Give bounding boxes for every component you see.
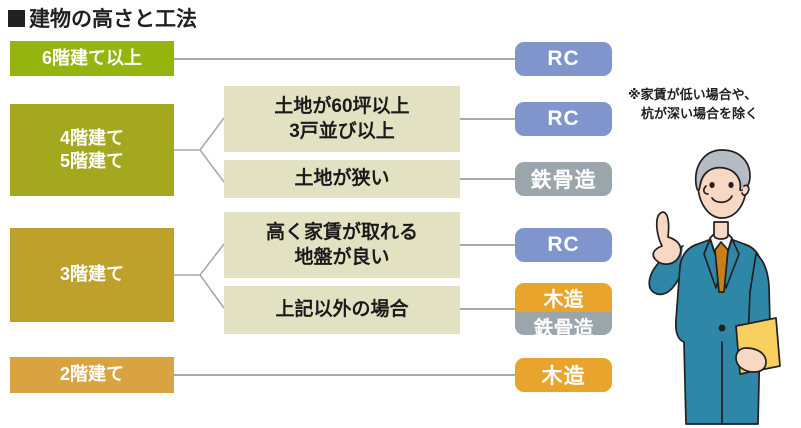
result-pill-wood-3floors[interactable]: 木造 <box>515 283 612 312</box>
connector-cond2-to-steel <box>460 178 515 180</box>
level-box-3-floors[interactable]: 3階建て <box>10 228 174 322</box>
result-pill-rc-6floors[interactable]: RC <box>515 42 612 76</box>
condition-box-high-rent-good-ground[interactable]: 高く家賃が取れる 地盤が良い <box>224 212 460 278</box>
connector-cond3-to-rc <box>460 244 515 246</box>
result-pill-wood-2floors[interactable]: 木造 <box>515 358 612 392</box>
result-pill-rc-45floors[interactable]: RC <box>515 102 612 136</box>
result-pill-steel-3floors[interactable]: 鉄骨造 <box>515 312 612 335</box>
result-pill-rc-3floors[interactable]: RC <box>515 228 612 262</box>
connector-cond4-to-wood-steel <box>460 308 515 310</box>
connector-branch-3floors <box>174 236 226 314</box>
connector-branch-45floors <box>174 112 226 190</box>
diagram-canvas: 建物の高さと工法 6階建て以上 4階建て 5階建て 3階建て 2階建て 土地が6… <box>0 0 801 428</box>
result-pill-steel-45floors[interactable]: 鉄骨造 <box>515 162 612 196</box>
page-title-text: 建物の高さと工法 <box>29 3 197 33</box>
condition-box-narrow-land[interactable]: 土地が狭い <box>224 160 460 198</box>
level-box-6-floors-and-up[interactable]: 6階建て以上 <box>10 41 174 76</box>
black-square-bullet-icon <box>8 10 25 27</box>
businessman-illustration-icon <box>636 142 796 428</box>
result-pill-stack-wood-steel[interactable]: 木造 鉄骨造 <box>515 283 612 335</box>
condition-box-land-60tsubo-3units[interactable]: 土地が60坪以上 3戸並び以上 <box>224 86 460 152</box>
page-title: 建物の高さと工法 <box>8 3 197 33</box>
condition-box-other-cases[interactable]: 上記以外の場合 <box>224 286 460 334</box>
footnote-text: ※家賃が低い場合や、 杭が深い場合を除く <box>628 86 793 124</box>
connector-6floors-to-rc <box>174 58 515 60</box>
connector-2floors-to-wood <box>174 374 515 376</box>
level-box-4-5-floors[interactable]: 4階建て 5階建て <box>10 104 174 196</box>
connector-cond1-to-rc <box>460 118 515 120</box>
level-box-2-floors[interactable]: 2階建て <box>10 357 174 393</box>
